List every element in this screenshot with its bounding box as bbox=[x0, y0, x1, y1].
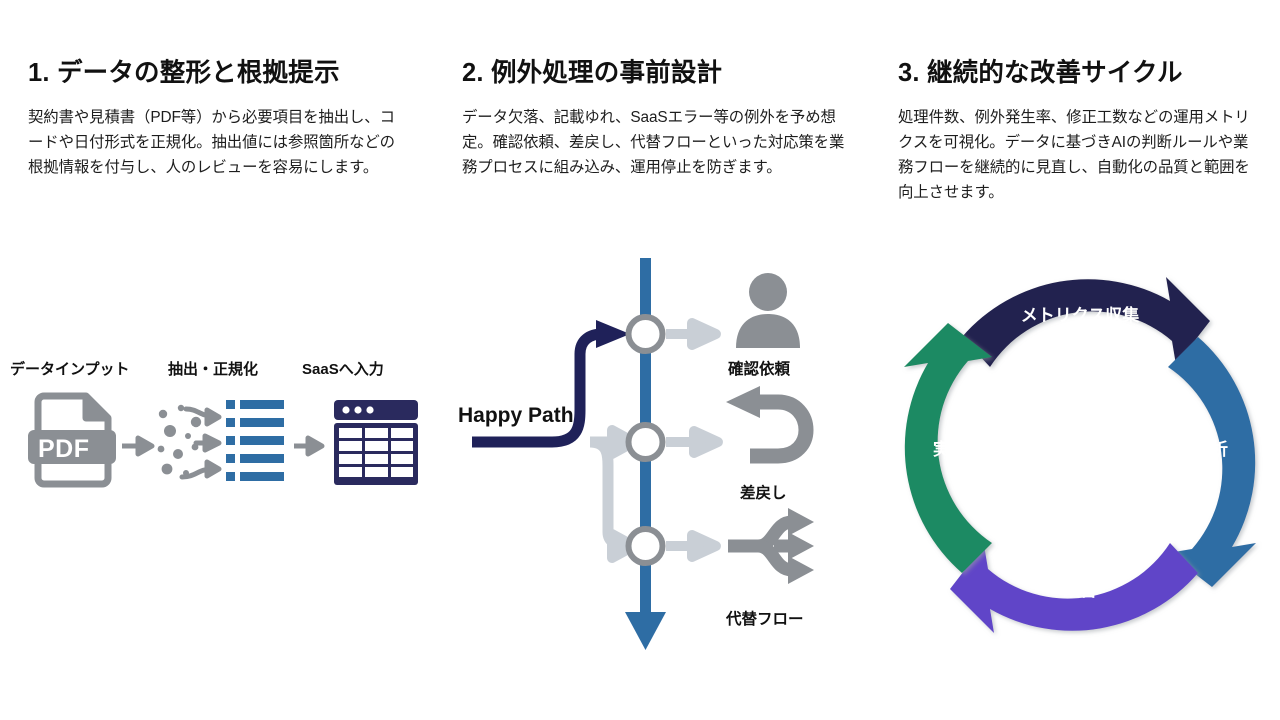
happy-path-label: Happy Path bbox=[458, 404, 574, 427]
column-1-body: 契約書や見積書（PDF等）から必要項目を抽出し、コードや日付形式を正規化。抽出値… bbox=[28, 106, 400, 181]
cycle-label-bottom: 改善 bbox=[1063, 580, 1097, 600]
improvement-cycle-figure: メトリクス収集 分析 改善 実行 bbox=[880, 255, 1280, 655]
pipeline-arrow-2-icon bbox=[294, 438, 322, 454]
column-2-body: データ欠落、記載ゆれ、SaaSエラー等の例外を予め想定。確認依頼、差戻し、代替フ… bbox=[462, 106, 850, 181]
junction-nodes bbox=[629, 317, 663, 563]
cycle-label-top: メトリクス収集 bbox=[1021, 305, 1140, 325]
pdf-badge-text: PDF bbox=[38, 435, 90, 463]
cycle-label-right: 分析 bbox=[1194, 439, 1228, 459]
column-3-title: 3. 継続的な改善サイクル bbox=[898, 58, 1260, 90]
outbound-arrow-row1 bbox=[666, 323, 716, 345]
cycle-segment-right[interactable] bbox=[1168, 337, 1256, 587]
pdf-file-icon: PDF bbox=[28, 396, 116, 484]
person-icon bbox=[736, 273, 800, 348]
data-pipeline-figure: データインプット 抽出・正規化 SaaSへ入力 PDF bbox=[0, 330, 440, 510]
slide-root: 1. データの整形と根拠提示 契約書や見積書（PDF等）から必要項目を抽出し、コ… bbox=[0, 0, 1280, 720]
extract-normalize-icon bbox=[158, 400, 284, 481]
outbound-arrow-row2 bbox=[666, 431, 718, 453]
pipeline-step-2-label: 抽出・正規化 bbox=[168, 360, 258, 378]
column-3-body: 処理件数、例外発生率、修正工数などの運用メトリクスを可視化。データに基づきAIの… bbox=[898, 106, 1260, 206]
pipeline-step-1-label: データインプット bbox=[10, 360, 130, 378]
branch-1-label: 確認依頼 bbox=[728, 359, 791, 378]
outbound-arrow-row3 bbox=[666, 535, 716, 557]
column-1-title: 1. データの整形と根拠提示 bbox=[28, 58, 400, 90]
branch-3-label: 代替フロー bbox=[725, 609, 804, 628]
exception-flow-figure: Happy Path 確認依頼 bbox=[440, 250, 840, 670]
branch-2-label: 差戻し bbox=[740, 483, 787, 502]
saas-table-icon bbox=[334, 400, 418, 485]
return-arrow-icon bbox=[726, 386, 806, 456]
column-2-title: 2. 例外処理の事前設計 bbox=[462, 58, 850, 90]
cycle-label-left: 実行 bbox=[933, 439, 967, 459]
pipeline-step-3-label: SaaSへ入力 bbox=[302, 360, 384, 378]
pipeline-arrow-1-icon bbox=[122, 438, 152, 454]
branch-arrow-icon bbox=[728, 508, 814, 584]
